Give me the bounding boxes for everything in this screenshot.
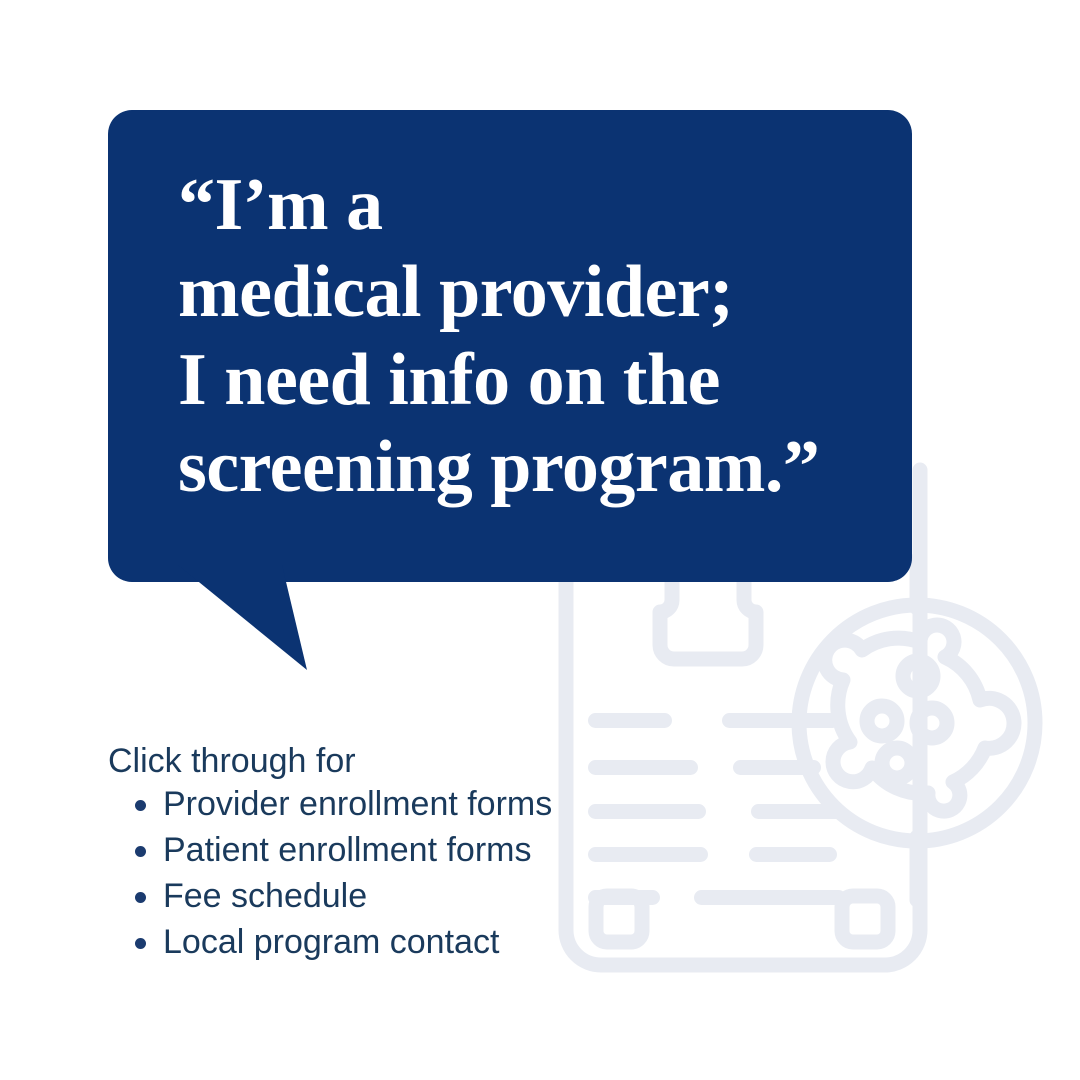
call-to-action-block: Click through for Provider enrollment fo… xyxy=(108,740,552,971)
list-item[interactable]: Patient enrollment forms xyxy=(108,833,552,867)
list-item-label: Local program contact xyxy=(163,923,499,961)
speech-bubble-tail-icon xyxy=(170,565,320,675)
quote-speech-bubble: “I’m a medical provider; I need info on … xyxy=(108,110,912,660)
bullet-icon xyxy=(135,846,146,857)
list-item-label: Fee schedule xyxy=(163,877,367,915)
list-item[interactable]: Provider enrollment forms xyxy=(108,787,552,821)
cta-link-list: Provider enrollment forms Patient enroll… xyxy=(108,787,552,959)
list-item[interactable]: Fee schedule xyxy=(108,879,552,913)
bullet-icon xyxy=(135,938,146,949)
list-item-label: Patient enrollment forms xyxy=(163,831,532,869)
clipboard-checkbox-icons xyxy=(596,896,888,942)
speech-bubble-body: “I’m a medical provider; I need info on … xyxy=(108,110,912,582)
list-item[interactable]: Local program contact xyxy=(108,925,552,959)
clipboard-text-lines xyxy=(588,713,846,905)
poster-canvas: “I’m a medical provider; I need info on … xyxy=(0,0,1080,1080)
bullet-icon xyxy=(135,892,146,903)
bullet-icon xyxy=(135,800,146,811)
cta-heading: Click through for xyxy=(108,740,552,783)
quote-text: “I’m a medical provider; I need info on … xyxy=(178,162,884,511)
list-item-label: Provider enrollment forms xyxy=(163,785,552,823)
